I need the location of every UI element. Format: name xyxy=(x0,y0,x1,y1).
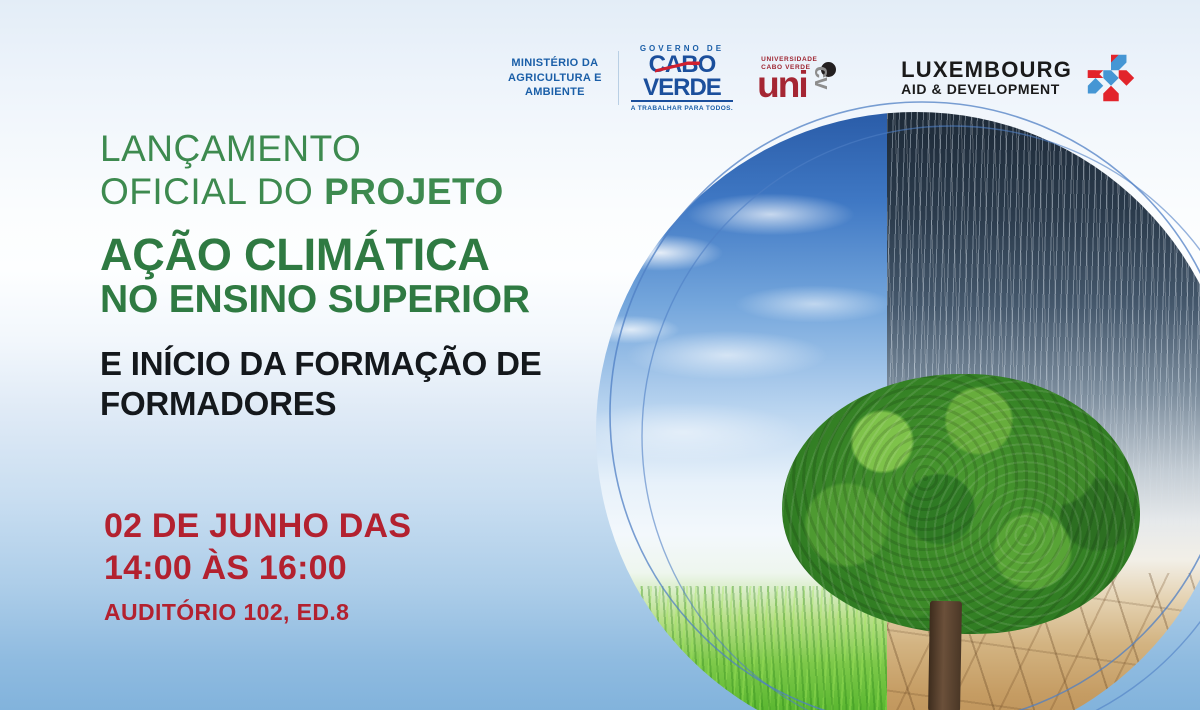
government-word-cabo: CABO xyxy=(631,54,733,76)
project-title-line-2: NO ENSINO SUPERIOR xyxy=(100,279,620,322)
logo-divider xyxy=(618,51,619,105)
ministry-logo: MINISTÉRIO DA AGRICULTURA E AMBIENTE xyxy=(500,56,610,101)
event-time-line: 14:00 ÀS 16:00 xyxy=(104,547,584,589)
headline-line-1: LANÇAMENTO xyxy=(100,128,620,171)
luxembourg-cross-icon xyxy=(1082,49,1140,107)
project-title-line-1: AÇÃO CLIMÁTICA xyxy=(100,230,620,280)
unicv-wordmark: uni xyxy=(757,66,806,103)
subtitle-line-1: E INÍCIO DA FORMAÇÃO DE xyxy=(100,344,620,384)
climate-scene-image xyxy=(596,112,1200,710)
headline-line-2: OFICIAL DO PROJETO xyxy=(100,171,620,214)
government-cabo-verde-logo: GOVERNO DE CABO VERDE A TRABALHAR PARA T… xyxy=(631,44,733,111)
ministry-line-1: MINISTÉRIO DA xyxy=(500,56,610,71)
luxembourg-line-1: LUXEMBOURG xyxy=(901,58,1072,81)
luxembourg-line-2: AID & DEVELOPMENT xyxy=(901,81,1072,98)
poster-canvas: MINISTÉRIO DA AGRICULTURA E AMBIENTE GOV… xyxy=(0,0,1200,710)
unicv-suffix: cv xyxy=(811,66,833,88)
climate-scene xyxy=(596,112,1200,710)
ministry-line-3: AMBIENTE xyxy=(500,85,610,100)
headline-block: LANÇAMENTO OFICIAL DO PROJETO AÇÃO CLIMÁ… xyxy=(100,128,620,423)
event-venue: AUDITÓRIO 102, ED.8 xyxy=(104,599,584,626)
tree-trunk xyxy=(928,600,962,710)
event-details-block: 02 DE JUNHO DAS 14:00 ÀS 16:00 AUDITÓRIO… xyxy=(104,505,584,626)
government-word-verde: VERDE xyxy=(631,77,733,102)
luxembourg-aid-logo: LUXEMBOURG AID & DEVELOPMENT xyxy=(901,49,1140,107)
university-unicv-logo: UNIVERSIDADE CABO VERDE uni cv xyxy=(755,50,863,106)
climate-scene-circle-clip xyxy=(596,112,1200,710)
government-tagline: A TRABALHAR PARA TODOS. xyxy=(631,105,733,112)
luxembourg-text: LUXEMBOURG AID & DEVELOPMENT xyxy=(901,58,1072,98)
tree-graphic xyxy=(782,374,1140,707)
tree-canopy xyxy=(782,374,1140,634)
event-date-line-1: 02 DE JUNHO DAS xyxy=(104,505,584,547)
subtitle-line-2: FORMADORES xyxy=(100,384,620,424)
headline-line-2-plain: OFICIAL DO xyxy=(100,171,324,212)
logo-strip: MINISTÉRIO DA AGRICULTURA E AMBIENTE GOV… xyxy=(500,40,1140,116)
ministry-line-2: AGRICULTURA E xyxy=(500,71,610,86)
headline-line-2-bold: PROJETO xyxy=(324,171,504,212)
